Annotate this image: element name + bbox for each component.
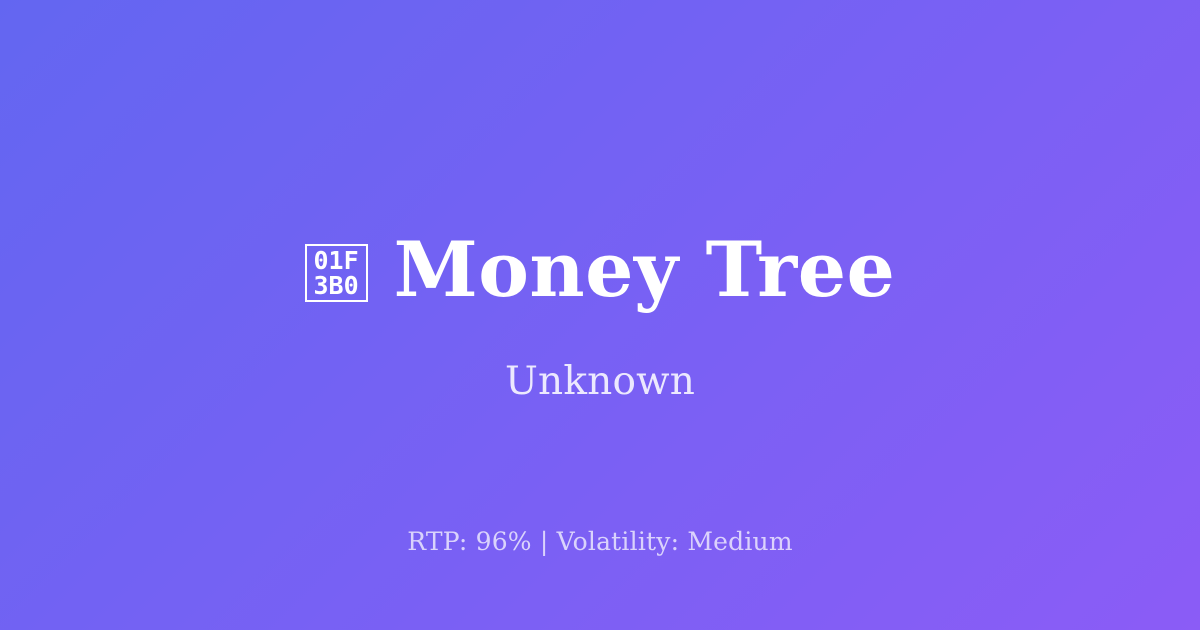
title-line: 01F 3B0 Money Tree — [0, 232, 1200, 308]
card-content: 01F 3B0 Money Tree Unknown RTP: 96% | Vo… — [0, 0, 1200, 630]
slot-machine-icon-codepoint-top: 01F — [314, 248, 359, 273]
game-title: Money Tree — [394, 232, 896, 308]
game-meta: RTP: 96% | Volatility: Medium — [0, 527, 1200, 557]
slot-machine-icon-codepoint-bottom: 3B0 — [314, 273, 359, 298]
slot-machine-icon: 01F 3B0 — [305, 244, 368, 302]
game-provider: Unknown — [0, 362, 1200, 401]
game-og-card: 01F 3B0 Money Tree Unknown RTP: 96% | Vo… — [0, 0, 1200, 630]
